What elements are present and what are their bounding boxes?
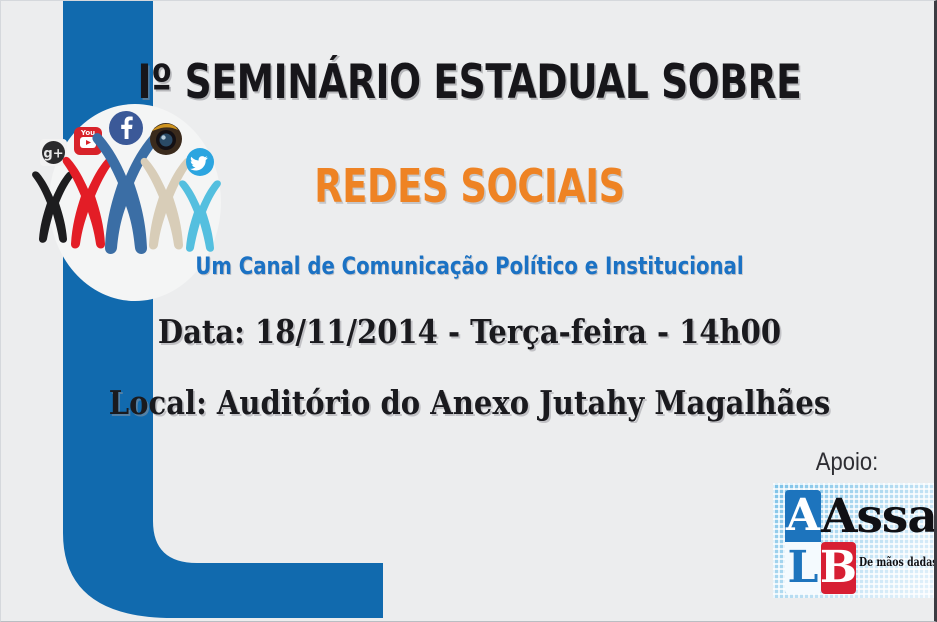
assalba-logo: A L B Assalba De mãos dadas com o servid… (773, 483, 937, 598)
assalba-logo-letter-b: B (821, 542, 856, 594)
sponsor-label: Apoio: (771, 448, 922, 477)
svg-text:g+: g+ (43, 147, 63, 162)
figure-google-plus: g+ (32, 139, 74, 243)
assalba-logo-letter-l: L (785, 542, 821, 594)
poster-location-line: Local: Auditório do Anexo Jutahy Magalhã… (57, 386, 882, 419)
assalba-logo-letter-a: A (785, 490, 821, 542)
svg-text:You: You (80, 129, 95, 137)
event-poster: g+ You (0, 0, 937, 622)
assalba-logo-wordmark: Assalba (821, 493, 937, 540)
poster-main-title: Iº SEMINÁRIO ESTADUAL SOBRE (95, 59, 845, 106)
poster-subject-title: REDES SOCIAIS (95, 163, 845, 209)
poster-date-line: Data: 18/11/2014 - Terça-feira - 14h00 (57, 315, 882, 348)
poster-tagline: Um Canal de Comunicação Político e Insti… (85, 254, 853, 278)
assalba-logo-slogan: De mãos dadas com o servidor (859, 555, 937, 569)
